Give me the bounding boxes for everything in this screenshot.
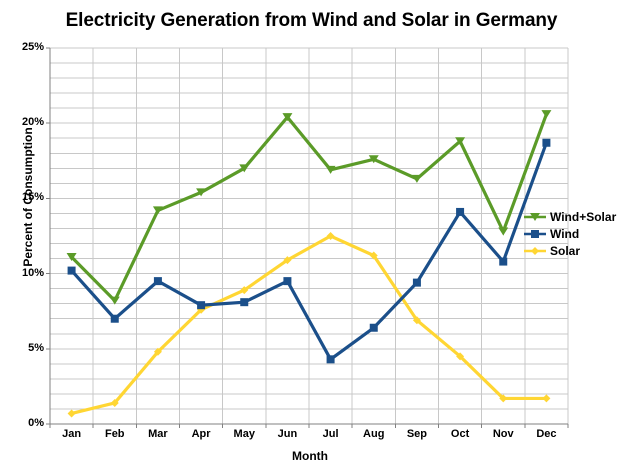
legend-marker-diamond-icon (524, 244, 546, 258)
chart-container: Electricity Generation from Wind and Sol… (0, 0, 623, 467)
legend-item-label: Wind+Solar (550, 210, 616, 224)
legend-marker-triangle-down-icon (524, 210, 546, 224)
axis-lines (46, 48, 568, 428)
chart-legend: Wind+SolarWindSolar (524, 208, 616, 259)
legend-item[interactable]: Wind+Solar (524, 208, 616, 225)
legend-item-label: Wind (550, 227, 579, 241)
legend-item-label: Solar (550, 244, 580, 258)
legend-marker-square-icon (524, 227, 546, 241)
legend-item[interactable]: Wind (524, 225, 616, 242)
legend-item[interactable]: Solar (524, 242, 616, 259)
vertical-gridlines (50, 48, 568, 424)
